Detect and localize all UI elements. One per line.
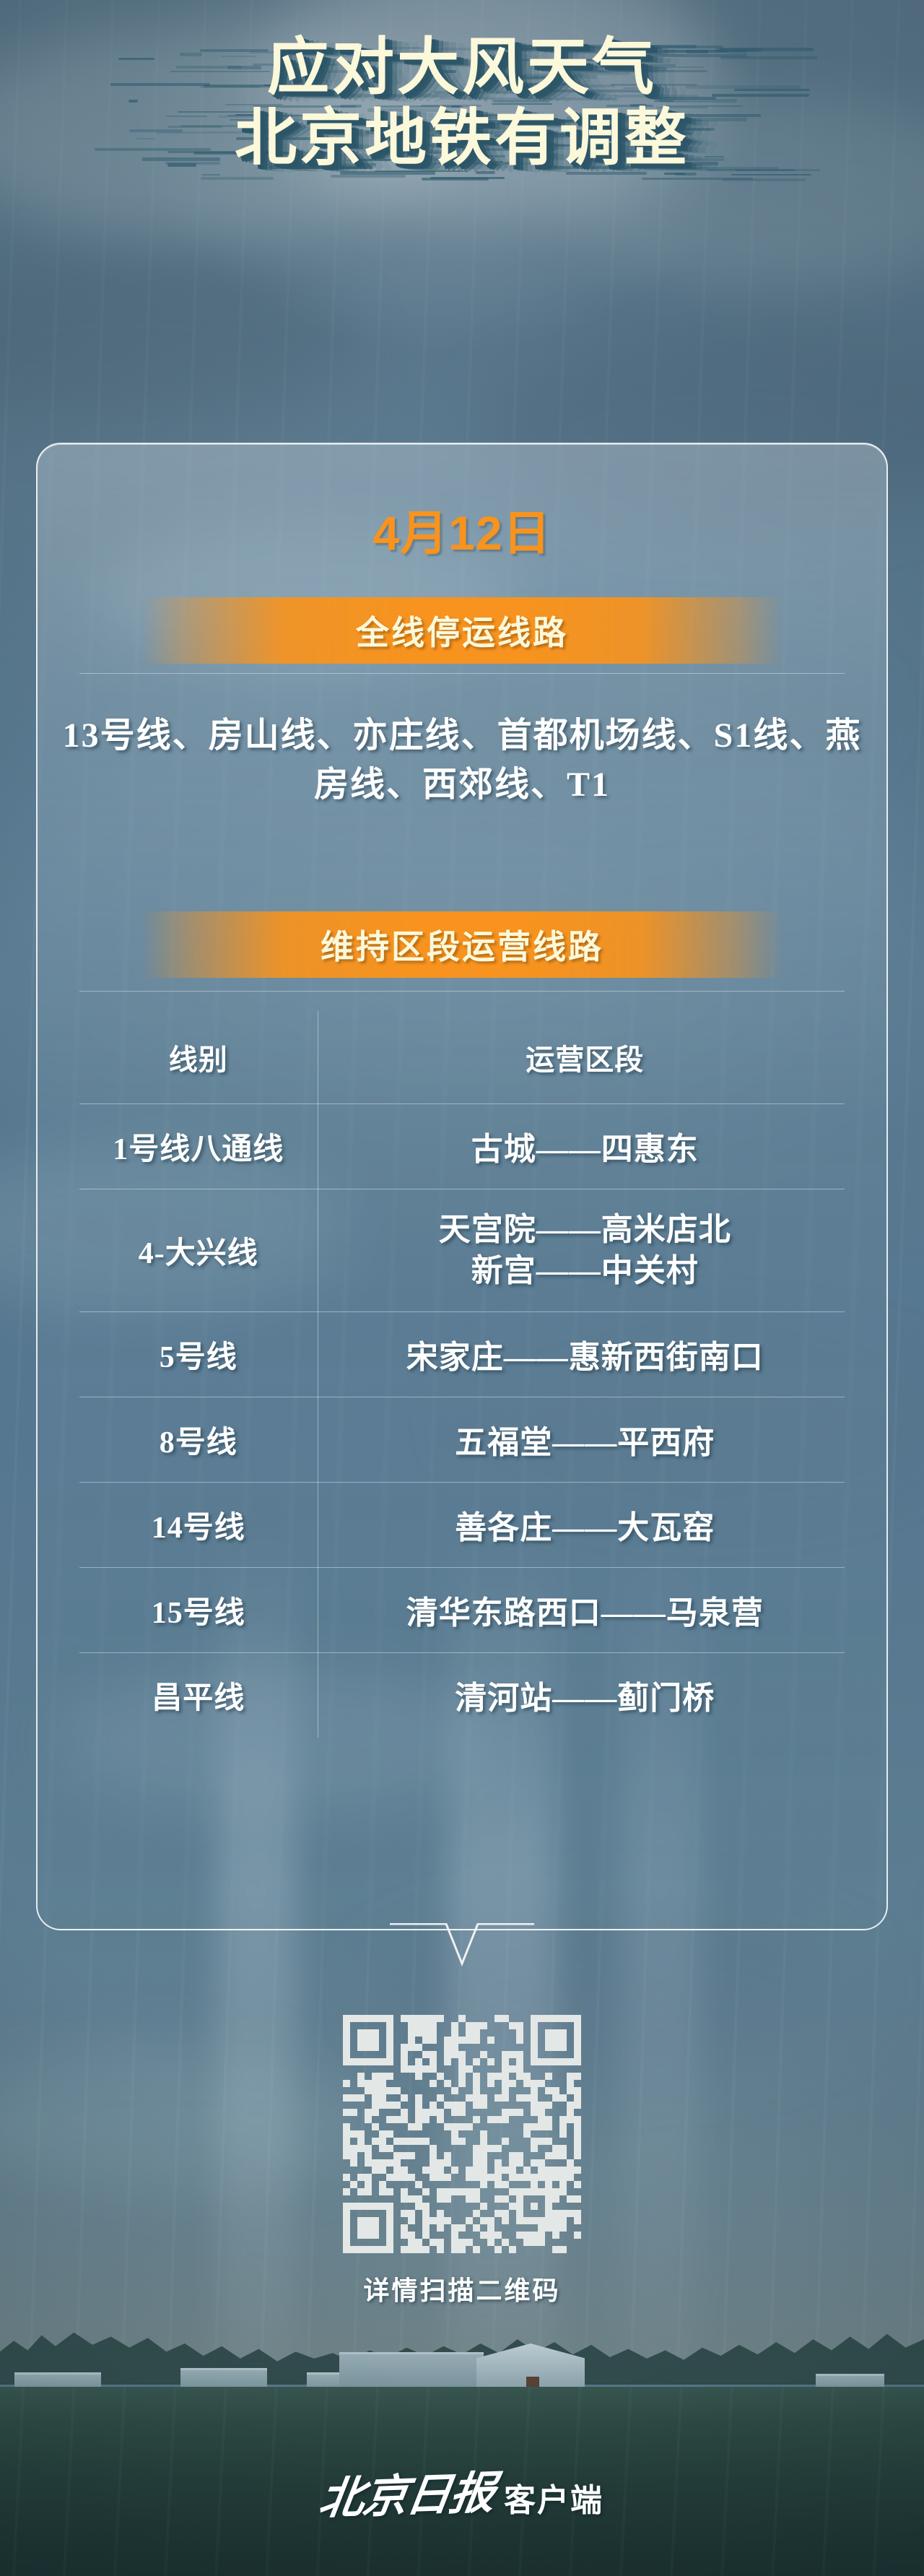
cell-line: 15号线 [79,1567,318,1652]
card-bottom-notch-icon [390,1923,534,1974]
poster-title: 应对大风天气 北京地铁有调整 [0,32,924,173]
table-row: 1号线八通线古城——四惠东 [79,1103,845,1189]
cell-line: 1号线八通线 [79,1103,318,1189]
divider [79,673,845,674]
title-line-2: 北京地铁有调整 [0,103,924,173]
table-row: 14号线善各庄——大瓦窑 [79,1482,845,1567]
cell-segment: 清华东路西口——马泉营 [318,1567,845,1652]
qr-caption: 详情扫描二维码 [0,2270,924,2307]
table-row: 8号线五福堂——平西府 [79,1397,845,1482]
suspended-lines-banner-label: 全线停运线路 [356,607,568,654]
title-line-1: 应对大风天气 [0,32,924,103]
table-row: 5号线宋家庄——惠新西街南口 [79,1311,845,1397]
cell-line: 5号线 [79,1311,318,1397]
table-row: 4-大兴线天宫院——高米店北新宫——中关村 [79,1189,845,1311]
suspended-lines-text: 13号线、房山线、亦庄线、首都机场线、S1线、燕房线、西郊线、T1 [51,711,873,810]
cell-segment: 清河站——蓟门桥 [318,1652,845,1738]
qr-code-icon[interactable] [343,2015,581,2253]
table-row: 昌平线清河站——蓟门桥 [79,1652,845,1738]
cell-segment: 古城——四惠东 [318,1103,845,1189]
publisher-app-label: 客户端 [504,2474,603,2520]
column-header-segment: 运营区段 [318,1011,845,1103]
qr-section: 详情扫描二维码 [0,2015,924,2307]
column-header-line: 线别 [79,1011,318,1103]
date-heading: 4月12日 [0,495,924,564]
cell-segment: 五福堂——平西府 [318,1397,845,1482]
cell-segment: 宋家庄——惠新西街南口 [318,1311,845,1397]
cell-segment: 善各庄——大瓦窑 [318,1482,845,1567]
suspended-lines-banner: 全线停运线路 [141,597,783,664]
divider [79,991,845,992]
publisher-footer: 北京日报客户端 [0,2459,924,2524]
partial-service-table: 线别 运营区段 1号线八通线古城——四惠东4-大兴线天宫院——高米店北新宫——中… [79,1011,845,1738]
cell-line: 昌平线 [79,1652,318,1738]
cell-line: 4-大兴线 [79,1189,318,1311]
partial-service-banner-label: 维持区段运营线路 [321,921,603,968]
table-header-row: 线别 运营区段 [79,1011,845,1103]
table-row: 15号线清华东路西口——马泉营 [79,1567,845,1652]
cell-line: 14号线 [79,1482,318,1567]
cell-line: 8号线 [79,1397,318,1482]
partial-service-banner: 维持区段运营线路 [141,911,783,978]
cell-segment: 天宫院——高米店北新宫——中关村 [318,1189,845,1311]
table-body: 1号线八通线古城——四惠东4-大兴线天宫院——高米店北新宫——中关村5号线宋家庄… [79,1103,845,1738]
publisher-logo: 北京日报 [315,2456,499,2527]
